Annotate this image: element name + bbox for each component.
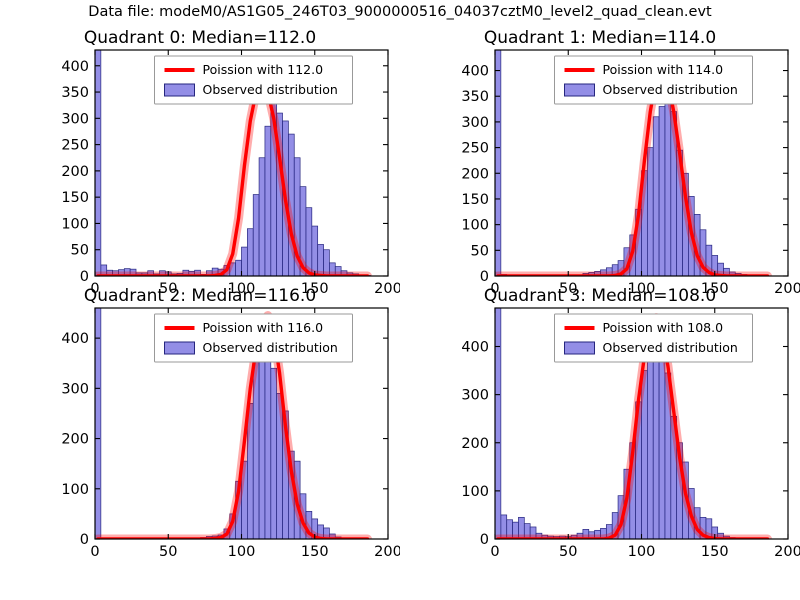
chart-quadrant-2[interactable]: 0501001502000100200300400Poission with 1…: [0, 286, 400, 566]
y-tick-label: 300: [61, 381, 89, 397]
histogram-bar: [647, 347, 653, 540]
x-tick-label: 100: [228, 544, 256, 560]
x-tick-label: 150: [701, 544, 729, 560]
x-tick-label: 50: [559, 544, 577, 560]
histogram-bar: [665, 94, 671, 276]
y-tick-label: 50: [471, 243, 489, 259]
histogram-bar: [95, 308, 101, 539]
y-tick-label: 350: [61, 85, 89, 101]
y-tick-label: 100: [61, 482, 89, 498]
panel-title-quadrant-3: Quadrant 3: Median=108.0: [400, 286, 800, 306]
legend-label-poisson: Poission with 114.0: [603, 62, 724, 77]
legend-label-poisson: Poission with 112.0: [203, 62, 324, 77]
legend-label-poisson: Poission with 108.0: [603, 320, 724, 335]
y-tick-label: 100: [461, 484, 489, 500]
panel-quadrant-1: Quadrant 1: Median=114.0 050100150200050…: [400, 28, 800, 300]
y-tick-label: 200: [61, 432, 89, 448]
histogram-bar: [271, 368, 277, 539]
histogram-bar: [653, 117, 659, 276]
y-tick-label: 200: [461, 166, 489, 182]
y-tick-label: 0: [80, 269, 89, 285]
chart-quadrant-0[interactable]: 050100150200050100150200250300350400Pois…: [0, 28, 400, 300]
chart-legend[interactable]: Poission with 112.0Observed distribution: [155, 56, 353, 104]
panel-quadrant-2: Quadrant 2: Median=116.0 050100150200010…: [0, 286, 400, 566]
histogram-bar: [495, 308, 501, 539]
y-tick-label: 300: [461, 115, 489, 131]
y-tick-label: 0: [480, 532, 489, 548]
y-tick-label: 400: [461, 64, 489, 80]
x-tick-label: 0: [90, 544, 99, 560]
panel-quadrant-0: Quadrant 0: Median=112.0 050100150200050…: [0, 28, 400, 300]
chart-quadrant-3[interactable]: 0501001502000100200300400Poission with 1…: [400, 286, 800, 566]
histogram-bar: [659, 107, 665, 277]
histogram-bar: [95, 50, 101, 276]
x-tick-label: 150: [301, 544, 329, 560]
histogram-bar: [653, 337, 659, 539]
legend-label-poisson: Poission with 116.0: [203, 320, 324, 335]
chart-legend[interactable]: Poission with 108.0Observed distribution: [555, 314, 753, 362]
chart-legend[interactable]: Poission with 116.0Observed distribution: [155, 314, 353, 362]
y-tick-label: 50: [71, 243, 89, 259]
legend-label-observed: Observed distribution: [203, 340, 338, 355]
y-tick-label: 400: [61, 331, 89, 347]
histogram-bar: [242, 247, 248, 276]
y-tick-label: 0: [80, 532, 89, 548]
y-tick-label: 100: [461, 218, 489, 234]
chart-legend[interactable]: Poission with 114.0Observed distribution: [555, 56, 753, 104]
y-tick-label: 350: [461, 89, 489, 105]
x-tick-label: 50: [159, 544, 177, 560]
y-tick-label: 0: [480, 269, 489, 285]
y-tick-label: 250: [61, 138, 89, 154]
histogram-bar: [265, 126, 271, 276]
legend-swatch-observed: [165, 84, 195, 96]
panel-quadrant-3: Quadrant 3: Median=108.0 050100150200010…: [400, 286, 800, 566]
legend-label-observed: Observed distribution: [603, 82, 738, 97]
legend-swatch-observed: [565, 84, 595, 96]
y-tick-label: 100: [61, 216, 89, 232]
panel-title-quadrant-1: Quadrant 1: Median=114.0: [400, 28, 800, 48]
y-tick-label: 300: [61, 111, 89, 127]
histogram-bar: [659, 361, 665, 539]
legend-label-observed: Observed distribution: [603, 340, 738, 355]
x-tick-label: 0: [490, 544, 499, 560]
legend-swatch-observed: [165, 342, 195, 354]
y-tick-label: 200: [461, 436, 489, 452]
histogram-bar: [236, 260, 242, 276]
chart-quadrant-1[interactable]: 050100150200050100150200250300350400Pois…: [400, 28, 800, 300]
histogram-bar: [312, 226, 318, 276]
panel-title-quadrant-0: Quadrant 0: Median=112.0: [0, 28, 400, 48]
panel-title-quadrant-2: Quadrant 2: Median=116.0: [0, 286, 400, 306]
x-tick-label: 100: [628, 544, 656, 560]
y-tick-label: 400: [61, 59, 89, 75]
figure-suptitle: Data file: modeM0/AS1G05_246T03_90000005…: [0, 4, 800, 20]
x-tick-label: 200: [774, 544, 800, 560]
x-tick-label: 200: [374, 544, 400, 560]
poisson-curve: [98, 84, 368, 276]
y-tick-label: 300: [461, 388, 489, 404]
histogram-bar: [259, 158, 265, 276]
y-tick-label: 400: [461, 340, 489, 356]
y-tick-label: 150: [61, 190, 89, 206]
legend-label-observed: Observed distribution: [203, 82, 338, 97]
y-tick-label: 150: [461, 192, 489, 208]
legend-swatch-observed: [565, 342, 595, 354]
y-tick-label: 200: [61, 164, 89, 180]
histogram-bar: [253, 195, 259, 276]
y-tick-label: 250: [461, 141, 489, 157]
histogram-bar: [495, 50, 501, 276]
histogram-bar: [247, 229, 253, 276]
